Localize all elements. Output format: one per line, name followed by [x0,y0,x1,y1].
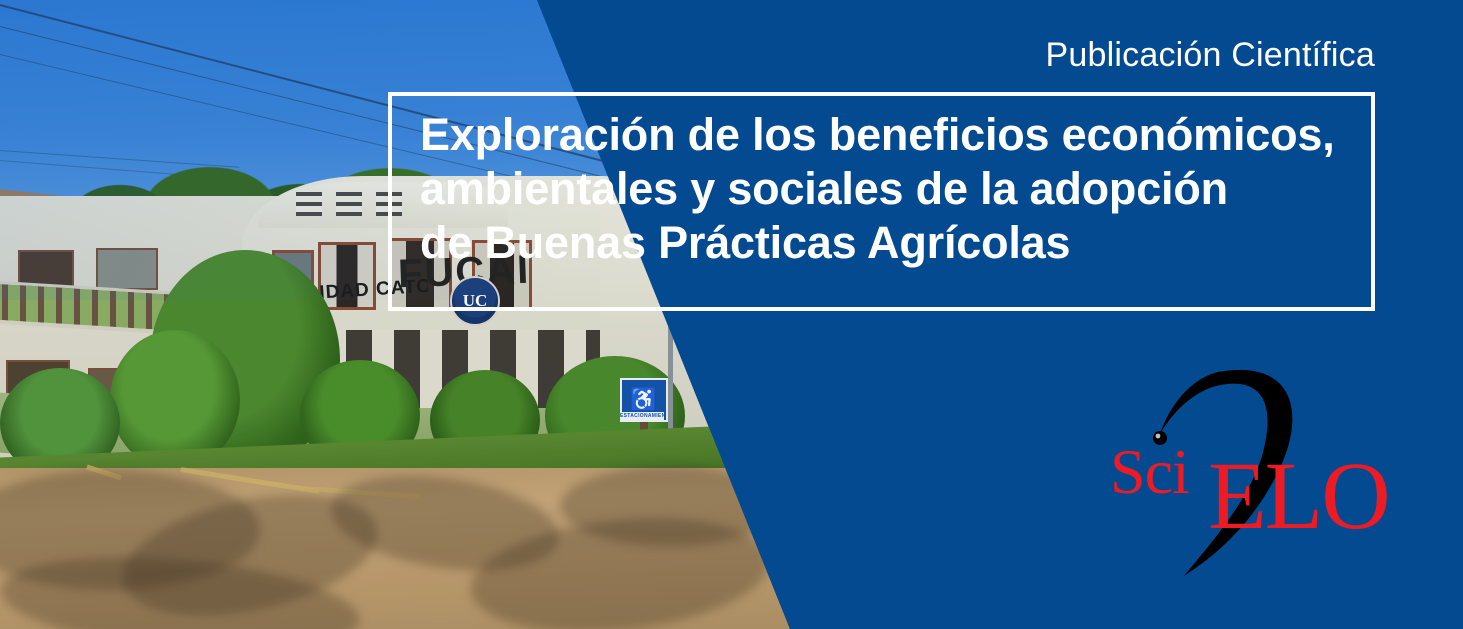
title-line-2: ambientales y sociales de la adopción [420,162,1380,216]
eyebrow-label: Publicación Científica [1046,36,1375,75]
scielo-wordmark-elo: ELO [1208,448,1389,544]
publication-banner: UNIVERSIDAD CATOLICA FUCAI UC ♿ ESTACION… [0,0,1463,629]
title-line-1: Exploración de los beneficios económicos… [420,108,1380,162]
page-title: Exploración de los beneficios económicos… [420,108,1380,270]
title-line-3: de Buenas Prácticas Agrícolas [420,216,1380,270]
scielo-logo[interactable]: Sci ELO [1098,352,1358,582]
scielo-wordmark-sci: Sci [1110,440,1189,504]
